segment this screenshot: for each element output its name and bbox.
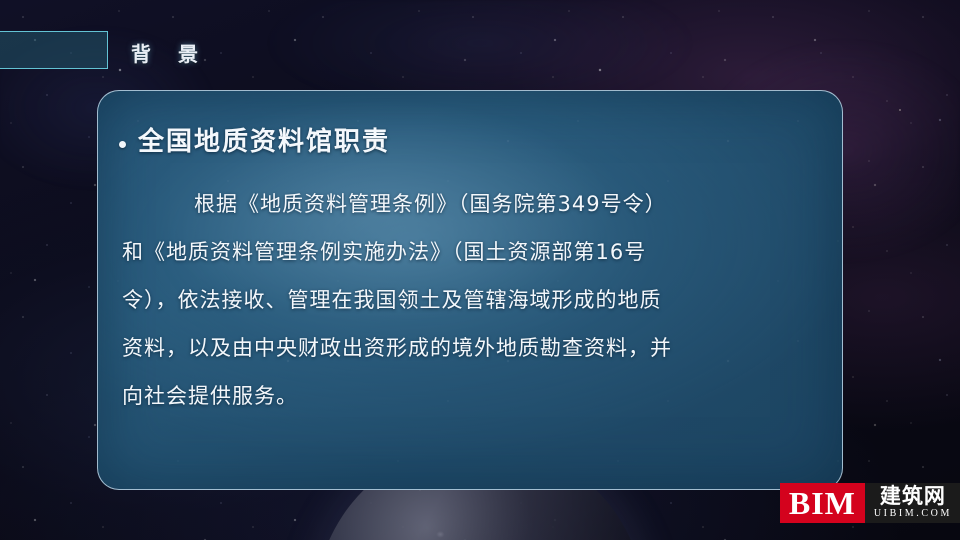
watermark-brand-chinese: 建筑网 bbox=[880, 485, 946, 507]
body-line: 和《地质资料管理条例实施办法》（国土资源部第16号 bbox=[122, 228, 808, 276]
body-line: 令），依法接收、管理在我国领土及管辖海域形成的地质 bbox=[122, 276, 808, 324]
panel-content: 全国地质资料馆职责 根据《地质资料管理条例》（国务院第349号令） 和《地质资料… bbox=[98, 91, 842, 420]
presentation-slide: 背 景 全国地质资料馆职责 根据《地质资料管理条例》（国务院第349号令） 和《… bbox=[0, 0, 960, 540]
watermark-brand-block: 建筑网 UIBIM.COM bbox=[865, 483, 960, 523]
watermark-url: UIBIM.COM bbox=[874, 508, 952, 520]
body-line: 向社会提供服务。 bbox=[122, 372, 808, 420]
body-paragraph: 根据《地质资料管理条例》（国务院第349号令） 和《地质资料管理条例实施办法》（… bbox=[119, 180, 808, 420]
watermark-brand-latin: BIM bbox=[780, 483, 865, 523]
content-panel: 全国地质资料馆职责 根据《地质资料管理条例》（国务院第349号令） 和《地质资料… bbox=[97, 90, 843, 490]
body-line: 根据《地质资料管理条例》（国务院第349号令） bbox=[122, 180, 808, 228]
bullet-dot-icon bbox=[119, 141, 126, 148]
bullet-heading-row: 全国地质资料馆职责 bbox=[119, 125, 808, 160]
slide-title: 背 景 bbox=[131, 38, 208, 67]
watermark-logo: BIM 建筑网 UIBIM.COM bbox=[780, 483, 960, 523]
heading-accent-bar bbox=[0, 31, 108, 69]
body-line: 资料，以及由中央财政出资形成的境外地质勘查资料，并 bbox=[122, 324, 808, 372]
bullet-heading-text: 全国地质资料馆职责 bbox=[138, 125, 390, 160]
